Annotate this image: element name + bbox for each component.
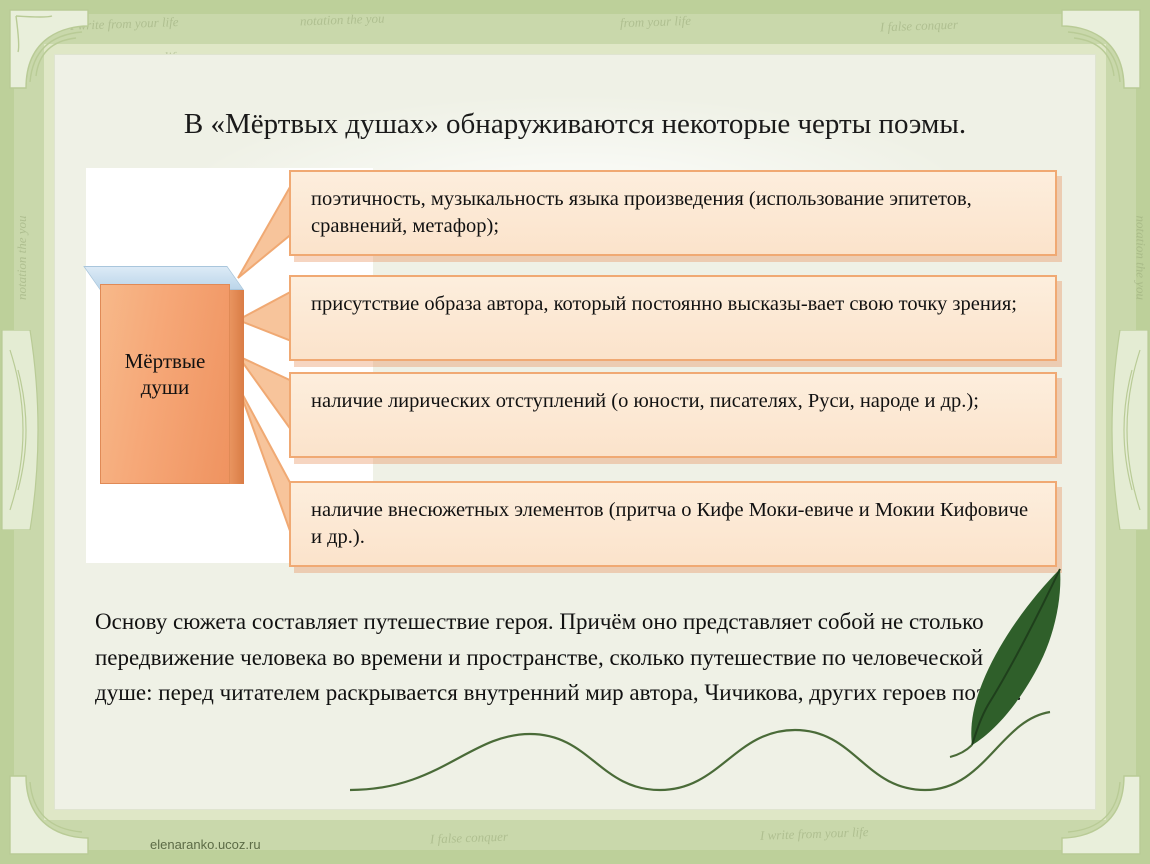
book-graphic: Мёртвые души bbox=[92, 262, 252, 490]
footer-source-label: elenaranko.ucoz.ru bbox=[150, 837, 261, 852]
book-spine bbox=[230, 290, 244, 484]
slide: I write from your life notation the you … bbox=[0, 0, 1150, 864]
page-title: В «Мёртвых душах» обнаруживаются некотор… bbox=[0, 108, 1150, 141]
feature-callout-1: поэтичность, музыкальность языка произве… bbox=[289, 170, 1057, 256]
summary-paragraph-text: Основу сюжета составляет путешествие гер… bbox=[95, 604, 1025, 711]
feature-callout-2: присутствие образа автора, который посто… bbox=[289, 275, 1057, 361]
feature-callout-4: наличие внесюжетных элементов (притча о … bbox=[289, 481, 1057, 567]
feature-callout-3: наличие лирических отступлений (о юности… bbox=[289, 372, 1057, 458]
summary-paragraph: Основу сюжета составляет путешествие гер… bbox=[95, 604, 1025, 711]
book-title-label: Мёртвые души bbox=[100, 348, 230, 401]
book-title-line-1: Мёртвые bbox=[100, 348, 230, 374]
book-title-line-2: души bbox=[100, 374, 230, 400]
